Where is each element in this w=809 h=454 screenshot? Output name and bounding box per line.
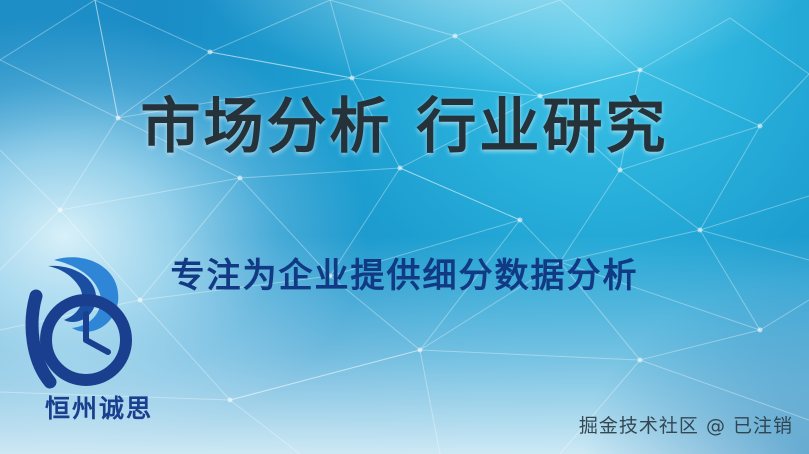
page-title: 市场分析 行业研究	[0, 78, 809, 165]
banner-image: 市场分析 行业研究 专注为企业提供细分数据分析 恒州诚思 掘金技术社区 @ 已注…	[0, 0, 809, 454]
watermark-text: 掘金技术社区 @ 已注销	[579, 411, 793, 438]
logo-mark-icon	[14, 244, 184, 394]
brand-logo: 恒州诚思	[14, 244, 184, 429]
logo-brand-text: 恒州诚思	[14, 389, 184, 425]
